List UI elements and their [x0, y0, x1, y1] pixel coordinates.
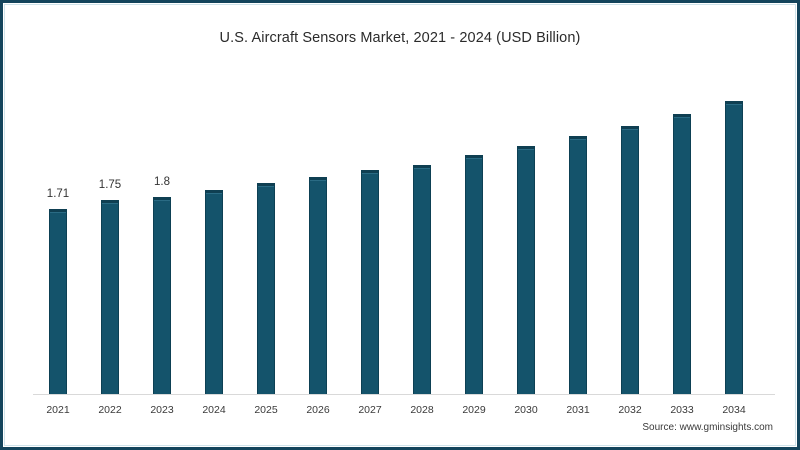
bar-top-cap	[466, 155, 482, 159]
bar-group	[188, 63, 240, 395]
x-axis-tick-label: 2027	[344, 404, 396, 416]
bar-top-cap	[518, 146, 534, 150]
bar-top-cap	[258, 183, 274, 187]
page-title: U.S. Aircraft Sensors Market, 2021 - 202…	[3, 30, 797, 46]
bar-top-cap	[310, 177, 326, 181]
bar-group	[396, 63, 448, 395]
bar[interactable]	[205, 190, 223, 395]
bar-value-label: 1.71	[32, 188, 84, 200]
bar[interactable]	[569, 136, 587, 395]
x-axis-line	[33, 394, 775, 395]
bar[interactable]	[309, 177, 327, 395]
x-axis-tick-label: 2021	[32, 404, 84, 416]
x-axis-tick-label: 2026	[292, 404, 344, 416]
x-axis-tick-label: 2030	[500, 404, 552, 416]
x-axis-tick-label: 2025	[240, 404, 292, 416]
bar-top-cap	[206, 190, 222, 194]
bar-group	[292, 63, 344, 395]
bar-group	[500, 63, 552, 395]
bar-group	[136, 63, 188, 395]
bar[interactable]	[725, 101, 743, 395]
bar[interactable]	[153, 197, 171, 395]
x-axis-tick-label: 2032	[604, 404, 656, 416]
bar[interactable]	[621, 126, 639, 395]
x-axis-tick-label: 2029	[448, 404, 500, 416]
bar-group	[448, 63, 500, 395]
source-attribution: Source: www.gminsights.com	[642, 422, 773, 433]
bar-top-cap	[726, 101, 742, 105]
bar-group	[552, 63, 604, 395]
x-axis-tick-label: 2023	[136, 404, 188, 416]
bar-value-label: 1.8	[136, 176, 188, 188]
bar-group	[656, 63, 708, 395]
chart-card: U.S. Aircraft Sensors Market, 2021 - 202…	[0, 0, 800, 450]
bar-group	[84, 63, 136, 395]
bar[interactable]	[49, 209, 67, 395]
bar[interactable]	[361, 170, 379, 395]
bar-top-cap	[154, 197, 170, 201]
x-axis-tick-label: 2024	[188, 404, 240, 416]
bar-group	[604, 63, 656, 395]
bar-group	[240, 63, 292, 395]
bar[interactable]	[517, 146, 535, 395]
bar-top-cap	[362, 170, 378, 174]
bar-top-cap	[622, 126, 638, 130]
bar[interactable]	[465, 155, 483, 395]
bar[interactable]	[413, 165, 431, 395]
bar-top-cap	[570, 136, 586, 140]
bar-top-cap	[50, 209, 66, 213]
bar-group	[708, 63, 760, 395]
bar-chart-plot-area	[33, 63, 773, 395]
bar-group	[32, 63, 84, 395]
bar[interactable]	[257, 183, 275, 395]
bar-top-cap	[674, 114, 690, 118]
x-axis-tick-label: 2028	[396, 404, 448, 416]
x-axis-tick-label: 2031	[552, 404, 604, 416]
bar[interactable]	[101, 200, 119, 395]
bar-group	[344, 63, 396, 395]
bar-top-cap	[414, 165, 430, 169]
bar[interactable]	[673, 114, 691, 395]
bar-value-label: 1.75	[84, 179, 136, 191]
x-axis-tick-label: 2034	[708, 404, 760, 416]
bar-top-cap	[102, 200, 118, 204]
x-axis-tick-label: 2033	[656, 404, 708, 416]
x-axis-tick-label: 2022	[84, 404, 136, 416]
